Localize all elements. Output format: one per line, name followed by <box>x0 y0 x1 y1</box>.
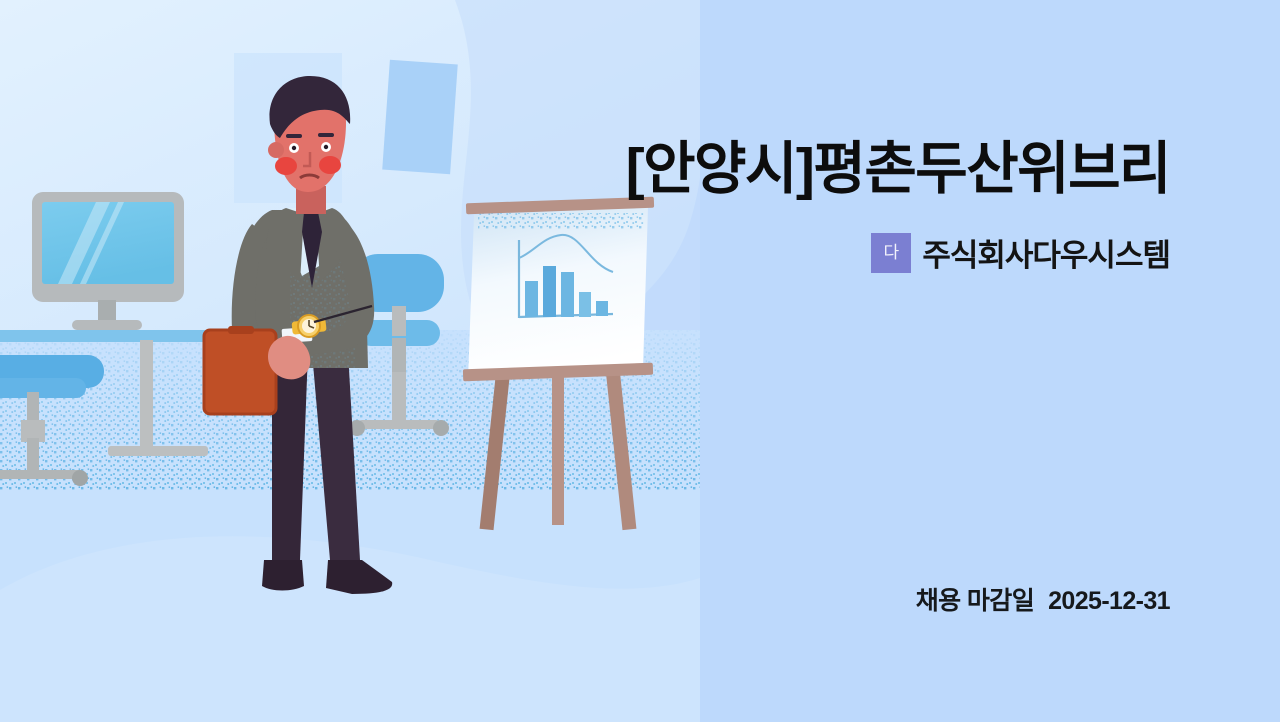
shoe-left <box>262 560 304 591</box>
deadline-row: 채용 마감일 2025-12-31 <box>916 581 1170 617</box>
deadline-value: 2025-12-31 <box>1048 587 1170 616</box>
chart-bar <box>561 272 574 317</box>
eyebrow-left <box>286 134 302 138</box>
deadline-label: 채용 마감일 <box>916 581 1034 617</box>
office-illustration <box>0 0 700 722</box>
briefcase <box>204 326 276 414</box>
company-name: 주식회사다우시스템 <box>922 230 1170 275</box>
eyebrow-right <box>318 133 334 137</box>
company-row[interactable]: 다 주식회사다우시스템 <box>871 230 1170 275</box>
chart-bar <box>579 292 591 317</box>
chart-bar <box>596 301 608 316</box>
job-posting-card: [안양시]평촌두산위브리 다 주식회사다우시스템 채용 마감일 2025-12-… <box>0 0 1280 722</box>
easel-flipchart <box>463 197 654 530</box>
chart-bar <box>525 281 538 317</box>
page-title: [안양시]평촌두산위브리 <box>270 139 1170 199</box>
company-logo-badge: 다 <box>871 233 911 273</box>
paper-speckle <box>478 213 644 229</box>
chart-bar <box>543 266 556 317</box>
